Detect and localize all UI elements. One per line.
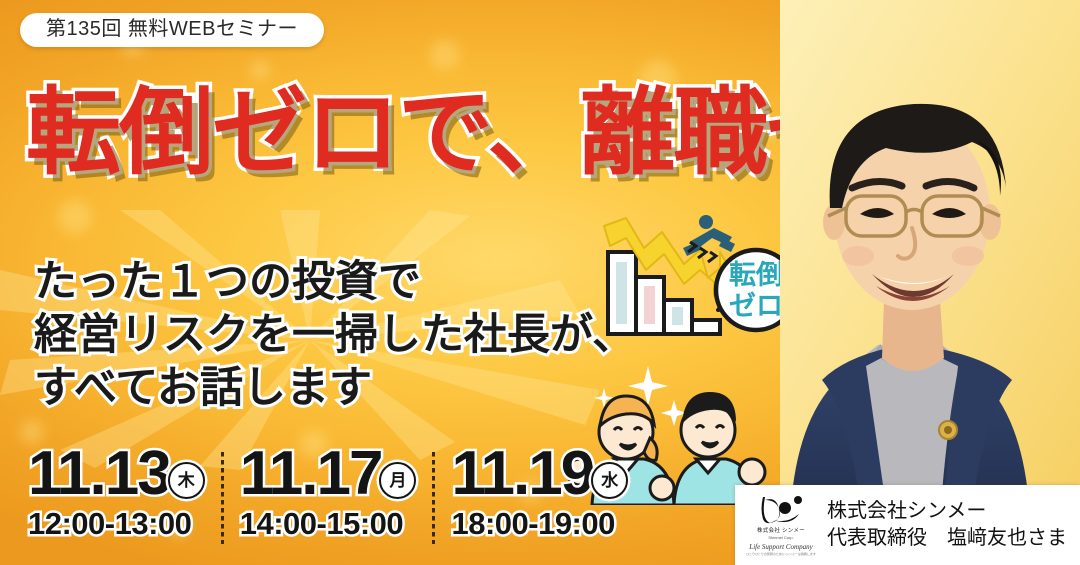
- subtitle-line-2: 経営リスクを一掃した社長が、: [34, 309, 635, 362]
- speaker-info: 株式会社シンメー 代表取締役 塩﨑友也さま: [827, 498, 1067, 552]
- date-block: 11.17 月 14:00-15:00: [226, 446, 431, 542]
- weekday-badge: 水: [591, 462, 628, 499]
- subtitle-line-3: すべてお話します: [34, 362, 635, 415]
- bokeh-circle: [430, 40, 460, 70]
- shinmei-logo-mark: [753, 494, 809, 524]
- date-time: 12:00-13:00: [28, 506, 205, 542]
- date-number: 11.13: [28, 446, 170, 502]
- date-time: 14:00-15:00: [240, 506, 417, 542]
- logo-script: Life Support Company: [749, 543, 812, 551]
- shinmei-company-logo: 株式会社 シンメー Shinmei Corp. Life Support Com…: [745, 492, 817, 558]
- date-divider: [221, 452, 224, 544]
- seminar-banner: 第135回 無料WEBセミナー ひとめく HitomeQ 転倒ゼロで、離職ゼロ！…: [0, 0, 1080, 565]
- date-number: 11.19: [451, 446, 593, 502]
- bubble-line-1: 転倒: [729, 260, 783, 290]
- date-time: 18:00-19:00: [451, 506, 628, 542]
- logo-caption-sub: Shinmei Corp.: [768, 535, 793, 540]
- subtitle: たった１つの投資で 経営リスクを一掃した社長が、 すべてお話します: [34, 256, 635, 415]
- speaker-card: 株式会社 シンメー Shinmei Corp. Life Support Com…: [735, 485, 1080, 565]
- date-block: 11.19 水 18:00-19:00: [437, 446, 642, 542]
- falling-risk-chart-illustration: 転倒 ゼロ: [596, 212, 801, 347]
- date-divider: [432, 452, 435, 544]
- date-line: 11.17 月: [240, 446, 417, 502]
- date-number: 11.17: [240, 446, 382, 502]
- speaker-portrait-photo: [780, 0, 1080, 520]
- logo-caption: 株式会社 シンメー: [757, 526, 805, 534]
- date-line: 11.19 水: [451, 446, 628, 502]
- speaker-title-name: 代表取締役 塩﨑友也さま: [827, 525, 1067, 552]
- weekday-badge: 木: [168, 462, 205, 499]
- date-list: 11.13 木 12:00-13:00 11.17 月 14:00-15:00 …: [14, 446, 642, 544]
- seminar-number-badge: 第135回 無料WEBセミナー: [20, 13, 324, 47]
- weekday-badge: 月: [379, 462, 416, 499]
- bokeh-circle: [58, 200, 92, 234]
- logo-script-sub: ひとりひとりの笑顔のために・シンメーは挑戦します: [746, 552, 816, 556]
- subtitle-line-1: たった１つの投資で: [34, 256, 635, 309]
- date-line: 11.13 木: [28, 446, 205, 502]
- date-block: 11.13 木 12:00-13:00: [14, 446, 219, 542]
- bubble-line-2: ゼロ: [729, 291, 783, 321]
- speaker-company: 株式会社シンメー: [827, 498, 1067, 525]
- bokeh-circle: [250, 60, 270, 80]
